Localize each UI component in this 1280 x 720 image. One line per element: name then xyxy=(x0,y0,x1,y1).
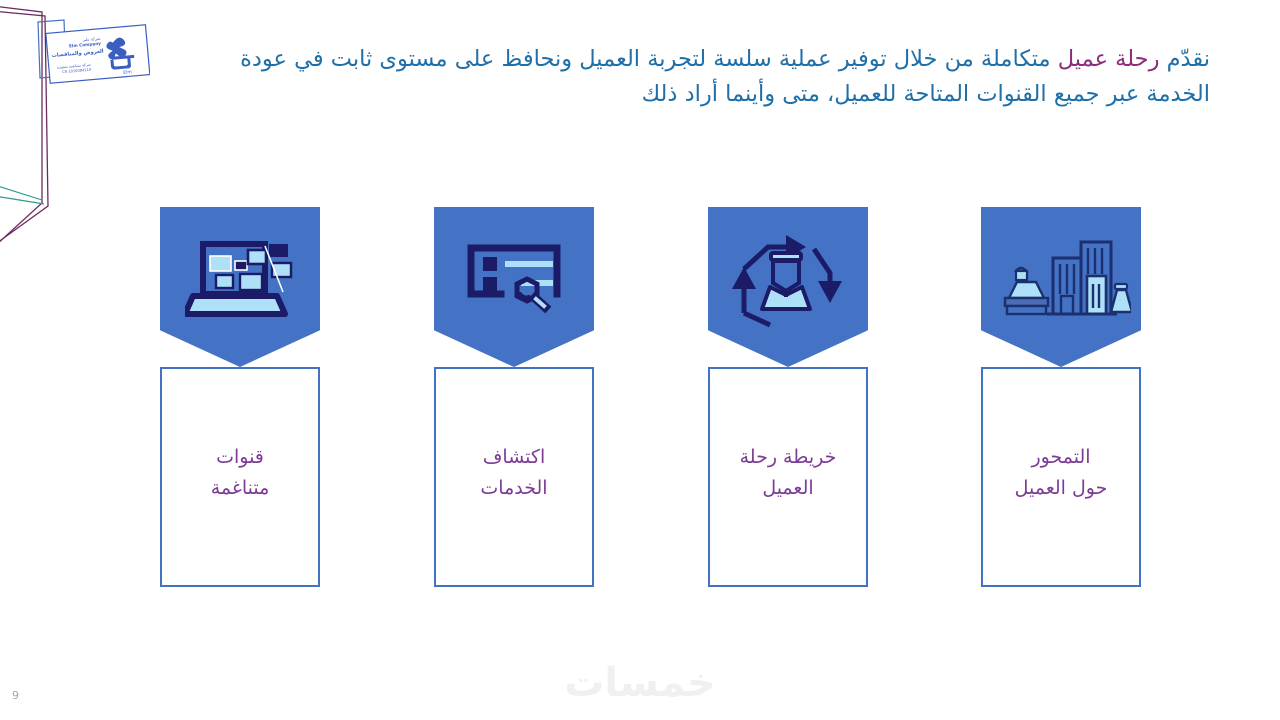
card-shield xyxy=(981,207,1141,367)
card-label: اكتشاف الخدمات xyxy=(480,442,547,505)
city-people-icon xyxy=(991,228,1131,332)
card-label: قنوات متناغمة xyxy=(211,442,270,505)
card-label: التمحور حول العميل xyxy=(1015,442,1108,505)
slide-title: نقدّم رحلة عميل متكاملة من خلال توفير عم… xyxy=(200,42,1210,112)
card-journey-map[interactable]: خريطة رحلة العميل xyxy=(708,207,868,367)
card-channels[interactable]: قنوات متناغمة xyxy=(160,207,320,367)
card-text-box: خريطة رحلة العميل xyxy=(708,367,868,587)
card-text-box: قنوات متناغمة xyxy=(160,367,320,587)
cards-row: قنوات متناغمة اكتشاف الخدمات xyxy=(0,207,1280,597)
laptop-screens-icon xyxy=(185,230,295,330)
card-label: خريطة رحلة العميل xyxy=(740,442,837,505)
card-service-discovery[interactable]: اكتشاف الخدمات xyxy=(434,207,594,367)
page-number: 9 xyxy=(12,689,19,702)
card-shield xyxy=(434,207,594,367)
watermark: خمسات xyxy=(564,660,716,706)
title-highlight: رحلة عميل xyxy=(1058,46,1160,72)
title-lead: نقدّم xyxy=(1159,46,1210,72)
card-text-box: التمحور حول العميل xyxy=(981,367,1141,587)
card-text-box: اكتشاف الخدمات xyxy=(434,367,594,587)
logo: Elm شركة علم Elm Company العروض والمناقص… xyxy=(46,24,150,88)
person-cycle-arrows-icon xyxy=(728,227,848,333)
card-shield xyxy=(160,207,320,367)
svg-text:Elm: Elm xyxy=(123,69,132,76)
card-shield xyxy=(708,207,868,367)
document-search-icon xyxy=(459,230,569,330)
card-customer-centricity[interactable]: التمحور حول العميل xyxy=(981,207,1141,367)
